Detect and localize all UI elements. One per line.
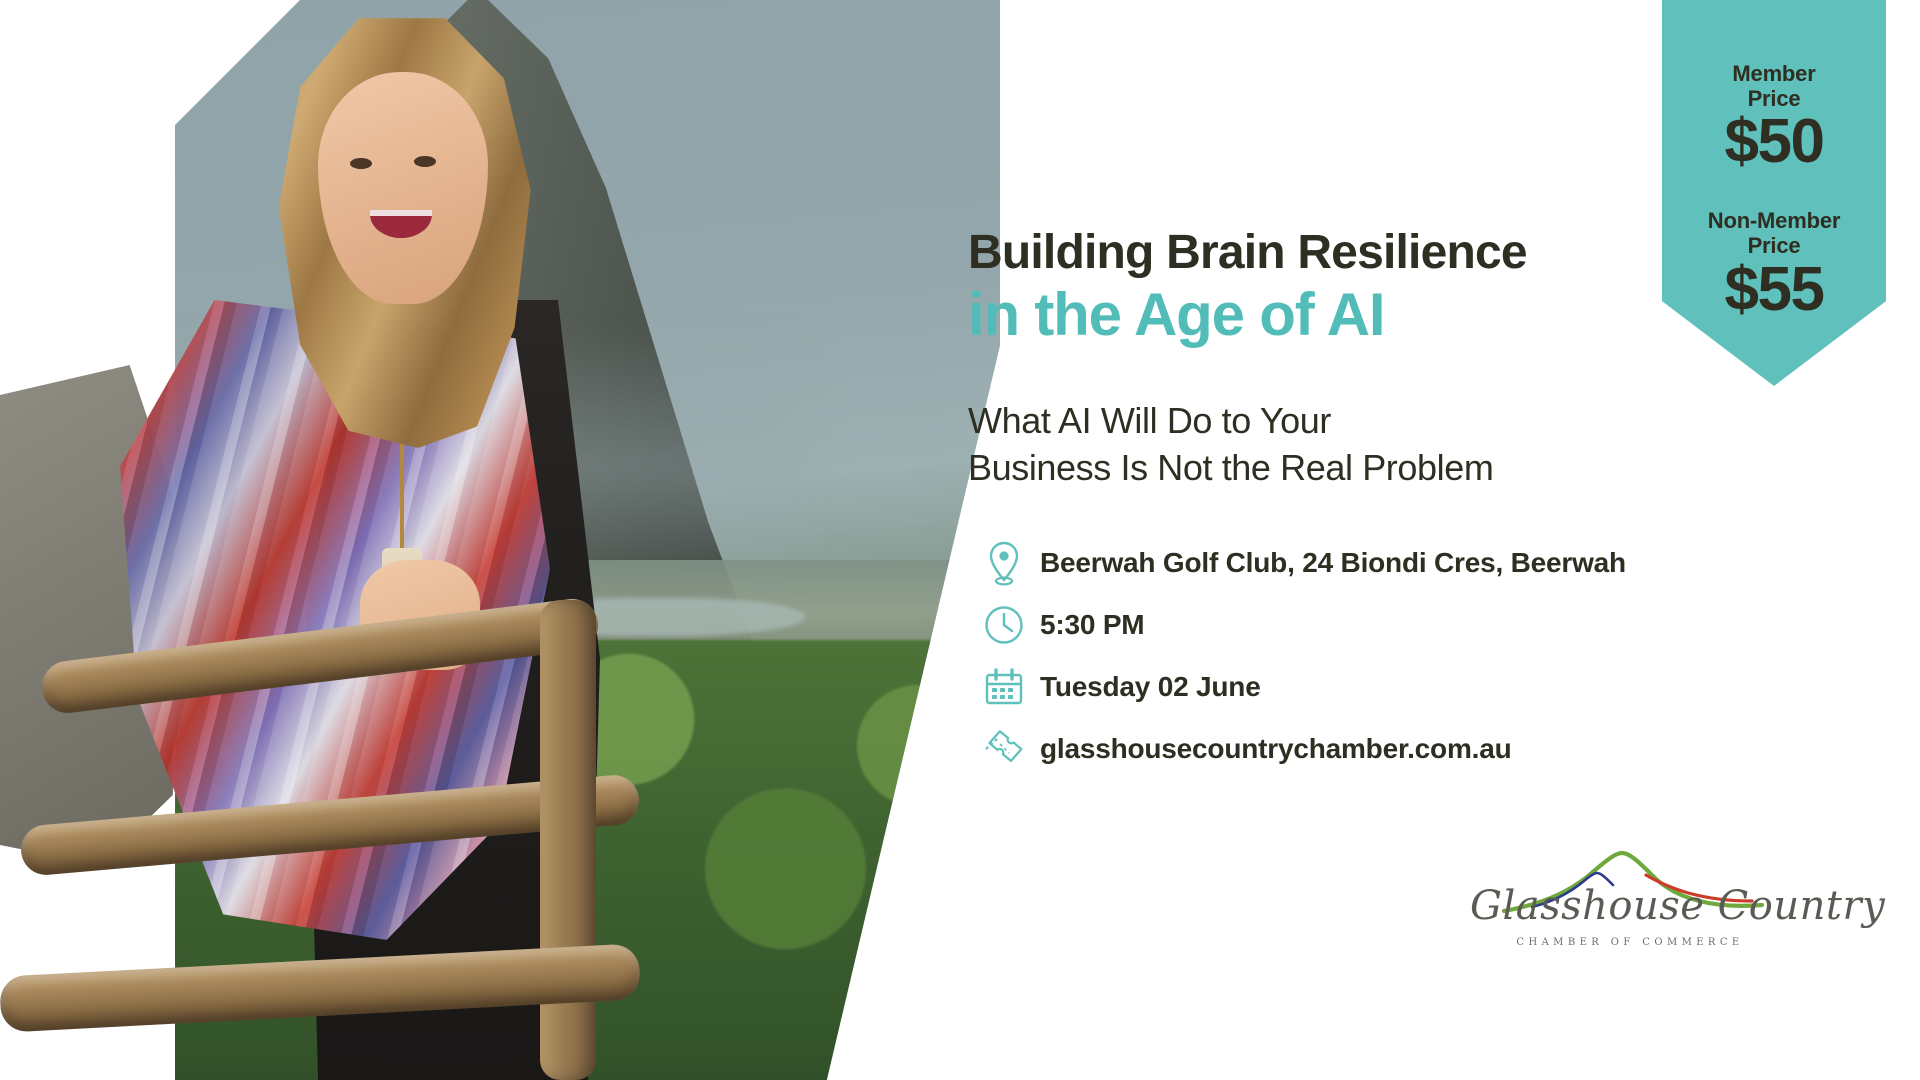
subtitle-block: What AI Will Do to Your Business Is Not … — [968, 398, 1588, 492]
speaker-portrait — [0, 0, 1000, 1080]
detail-text-time: 5:30 PM — [1040, 609, 1144, 641]
detail-row-date: Tuesday 02 June — [968, 656, 1828, 718]
logo-subtitle-text: CHAMBER OF COMMERCE — [1470, 937, 1790, 948]
tickets-icon — [968, 727, 1040, 771]
eye-left — [350, 158, 372, 169]
detail-row-location: Beerwah Golf Club, 24 Biondi Cres, Beerw… — [968, 532, 1828, 594]
detail-text-website[interactable]: glasshousecountrychamber.com.au — [1040, 733, 1512, 765]
headline-line-1: Building Brain Resilience — [968, 228, 1668, 279]
location-pin-icon — [968, 540, 1040, 586]
calendar-icon — [968, 666, 1040, 708]
detail-row-website[interactable]: glasshousecountrychamber.com.au — [968, 718, 1828, 780]
hero-photo — [0, 0, 1000, 1080]
detail-text-date: Tuesday 02 June — [1040, 671, 1261, 703]
event-details-list: Beerwah Golf Club, 24 Biondi Cres, Beerw… — [968, 532, 1828, 780]
chamber-logo: Glasshouse Country CHAMBER OF COMMERCE — [1470, 845, 1790, 975]
headline-block: Building Brain Resilience in the Age of … — [968, 228, 1668, 348]
subtitle-line-2: Business Is Not the Real Problem — [968, 445, 1588, 492]
headline-line-2: in the Age of AI — [968, 283, 1668, 348]
detail-text-location: Beerwah Golf Club, 24 Biondi Cres, Beerw… — [1040, 547, 1626, 579]
detail-row-time: 5:30 PM — [968, 594, 1828, 656]
bench-post — [540, 600, 596, 1080]
face — [318, 72, 488, 304]
eye-right — [414, 156, 436, 167]
event-flyer: Member Price $50 Non-Member Price $55 Bu… — [0, 0, 1920, 1080]
clock-icon — [968, 604, 1040, 646]
subtitle-line-1: What AI Will Do to Your — [968, 398, 1588, 445]
logo-script-text: Glasshouse Country — [1470, 883, 1790, 929]
